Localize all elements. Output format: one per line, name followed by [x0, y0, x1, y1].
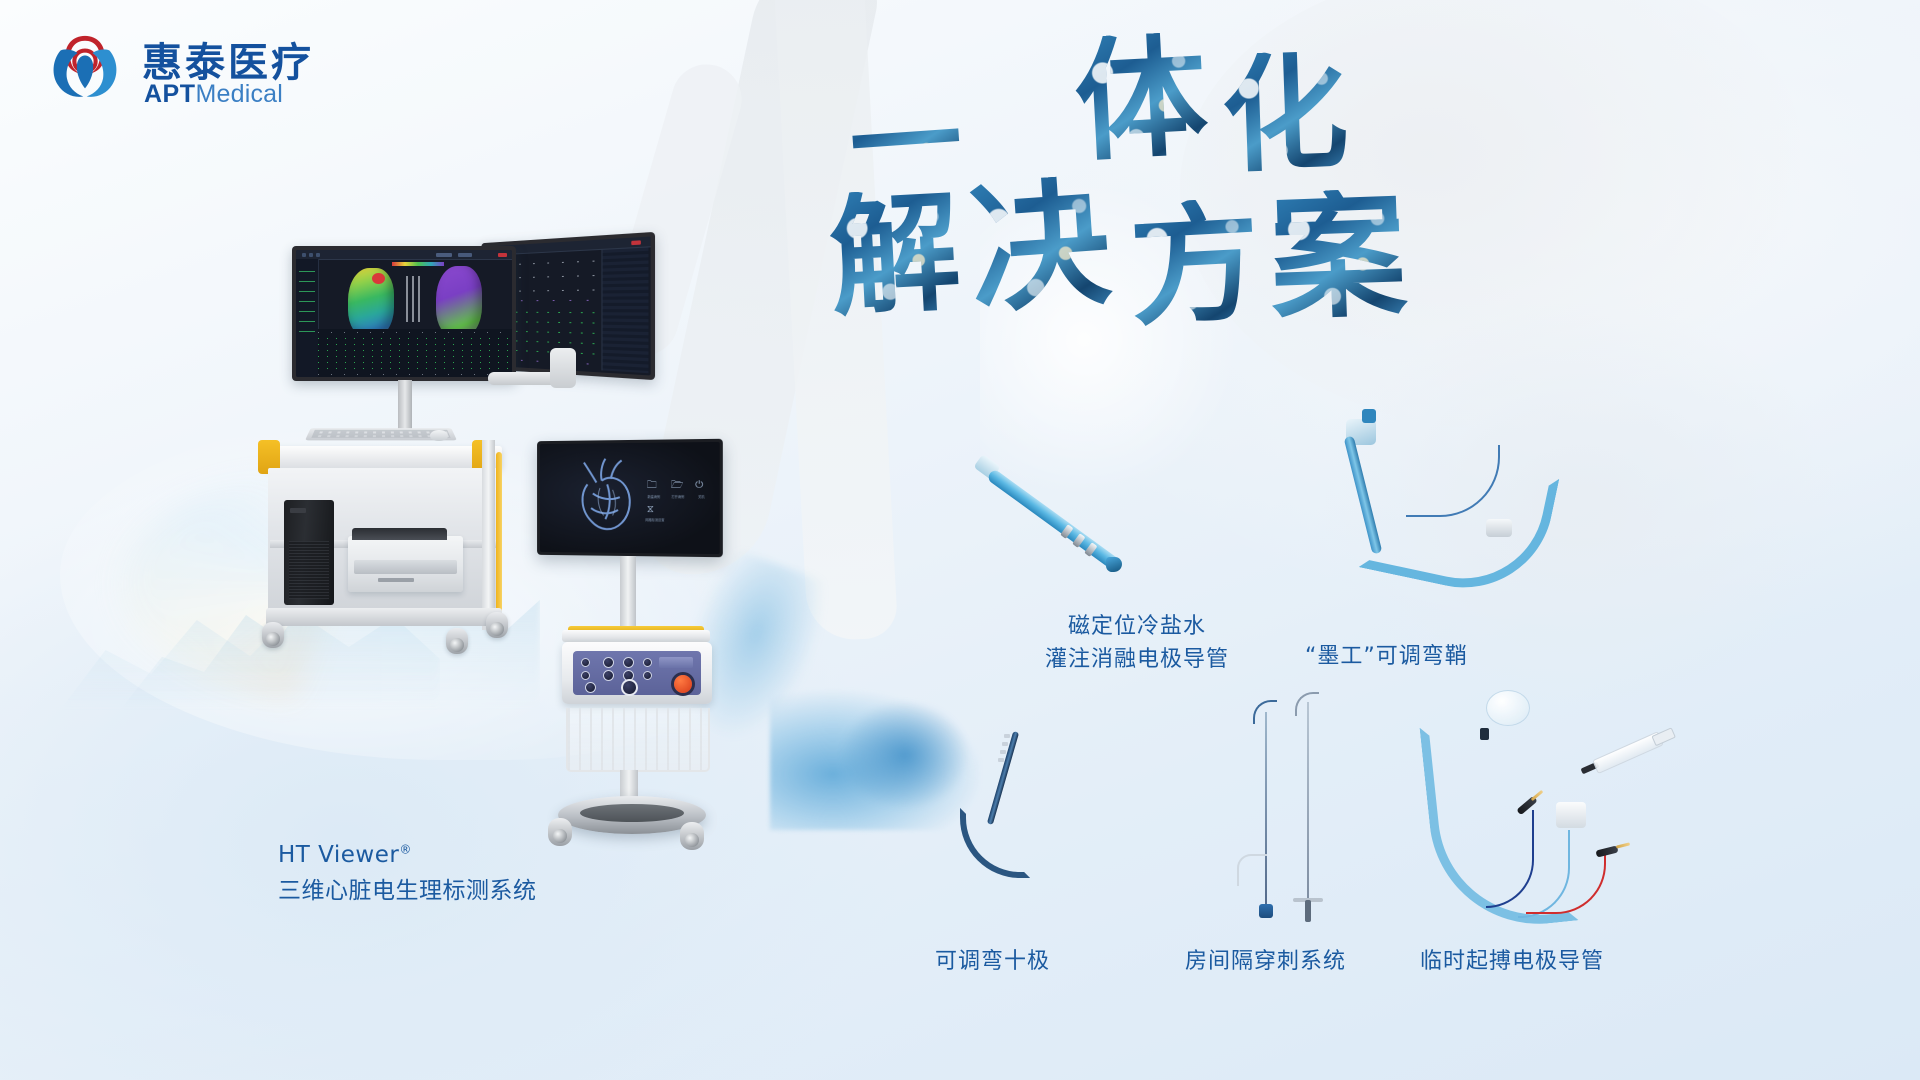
poster-canvas: 惠泰医疗 APTMedical 一 体 化 解 决 方 案 — [0, 0, 1920, 1080]
storage-basket — [566, 708, 710, 772]
voltage-colorbar — [392, 262, 444, 266]
septal-side-arm — [1237, 854, 1267, 886]
display-tray — [562, 630, 710, 642]
new-folder-icon[interactable]: 🗀 — [647, 481, 657, 491]
monitor-arm-joint — [550, 348, 576, 388]
3d-mapping-monitor — [292, 246, 516, 381]
cart-caster — [446, 628, 468, 654]
new-folder-label: 新建病例 — [643, 494, 665, 499]
pacing-wire-red — [1526, 850, 1606, 914]
power-icon[interactable]: ⏻ — [695, 481, 703, 491]
cart-base — [266, 608, 502, 626]
label-septal-puncture-system: 房间隔穿刺系统 — [1185, 945, 1346, 978]
ablation-catheter-tip — [1106, 557, 1122, 572]
open-folder-icon[interactable]: 🗁 — [671, 481, 684, 491]
decapolar-curve — [960, 808, 1030, 878]
cardiac-map-voltage — [436, 266, 482, 338]
cart-caster — [486, 612, 508, 638]
heart-anatomy-display: 🗀 新建病例 🗁 打开病例 ⏻ 关机 ⧖ 网格标测设置 — [537, 439, 723, 557]
cart-accent-rail — [496, 452, 502, 627]
mapping-signal-panel — [296, 259, 319, 377]
workstation-label: HT Viewer® 三维心脏电生理标测系统 — [278, 838, 537, 909]
cart-caster — [262, 622, 284, 648]
headline-char-2: 体 — [1072, 31, 1211, 170]
mesh-label: 网格标测设置 — [641, 517, 669, 522]
cart-post — [482, 440, 495, 630]
display-cart: 🗀 新建病例 🗁 打开病例 ⏻ 关机 ⧖ 网格标测设置 — [528, 440, 778, 860]
display-neck — [620, 556, 636, 632]
mapping-monitor-screen — [296, 250, 512, 377]
generator-display — [659, 657, 693, 668]
pacing-electrode-band — [1480, 728, 1489, 740]
heart-anatomy-icon — [561, 451, 651, 547]
mapping-ecg-wall — [318, 329, 512, 377]
ink-splash-2 — [840, 700, 970, 810]
cart-worktop — [264, 446, 502, 468]
cardiac-map-activation — [348, 268, 394, 338]
brand-name-en-primary: APT — [144, 80, 196, 108]
display-caster — [548, 818, 572, 846]
apt-medical-logo-icon — [44, 26, 126, 108]
rf-generator-console — [562, 642, 712, 704]
main-connector-port[interactable] — [621, 679, 638, 696]
pacing-stopcock — [1556, 802, 1586, 828]
septal-dilator — [1307, 702, 1309, 908]
mesh-icon[interactable]: ⧖ — [647, 505, 654, 515]
mouse[interactable] — [430, 430, 448, 441]
headline-char-7: 案 — [1268, 188, 1409, 329]
product-ablation-catheter — [990, 445, 1190, 585]
workstation-name-en: HT Viewer® — [278, 838, 537, 874]
pacing-pin-red — [1616, 842, 1630, 848]
sheath-cap — [1362, 409, 1376, 423]
workstation-name-cn: 三维心脏电生理标测系统 — [278, 874, 537, 910]
brand-name-en-secondary: Medical — [196, 80, 284, 108]
headline-calligraphy: 一 体 化 解 决 方 案 — [960, 40, 1660, 340]
trademark-symbol: ® — [399, 842, 412, 856]
pacing-connector-red — [1595, 845, 1618, 857]
brand-logo: 惠泰医疗 APTMedical — [44, 22, 364, 112]
septal-dilator-stem — [1305, 900, 1311, 922]
product-temporary-pacing-catheter — [1430, 690, 1680, 920]
label-steerable-sheath: “墨工”可调弯鞘 — [1305, 640, 1468, 673]
headline-char-4: 解 — [827, 187, 964, 324]
headline-char-3: 化 — [1220, 50, 1350, 180]
ecg-value-table — [601, 247, 648, 373]
sheath-valve — [1486, 519, 1512, 537]
label-temporary-pacing-catheter: 临时起搏电极导管 — [1420, 945, 1604, 978]
product-decapolar-catheter — [960, 730, 1080, 880]
monitor-post — [398, 380, 412, 432]
generator-panel — [573, 651, 701, 695]
pacing-balloon — [1486, 690, 1530, 726]
mapping-toolbar — [296, 250, 512, 260]
headline-char-5: 决 — [965, 173, 1114, 322]
open-folder-label: 打开病例 — [667, 494, 689, 499]
display-icon-row: 🗀 新建病例 🗁 打开病例 ⏻ 关机 ⧖ 网格标测设置 — [647, 481, 710, 534]
brand-name-en: APTMedical — [144, 80, 283, 109]
septal-needle-hub — [1259, 904, 1273, 918]
power-label: 关机 — [692, 494, 710, 499]
ablation-catheter-shaft — [986, 468, 1123, 573]
printer — [348, 536, 463, 592]
generator-power-button[interactable] — [674, 675, 692, 693]
display-caster — [680, 822, 704, 850]
pc-tower — [284, 500, 334, 605]
pacing-syringe — [1578, 723, 1675, 782]
product-steerable-sheath — [1340, 415, 1580, 590]
product-septal-puncture-system — [1215, 690, 1365, 920]
label-ablation-catheter: 磁定位冷盐水 灌注消融电极导管 — [1045, 610, 1229, 676]
heart-display-screen: 🗀 新建病例 🗁 打开病例 ⏻ 关机 ⧖ 网格标测设置 — [540, 442, 720, 554]
headline-char-6: 方 — [1127, 197, 1264, 334]
label-decapolar-catheter: 可调弯十极 — [935, 945, 1050, 978]
